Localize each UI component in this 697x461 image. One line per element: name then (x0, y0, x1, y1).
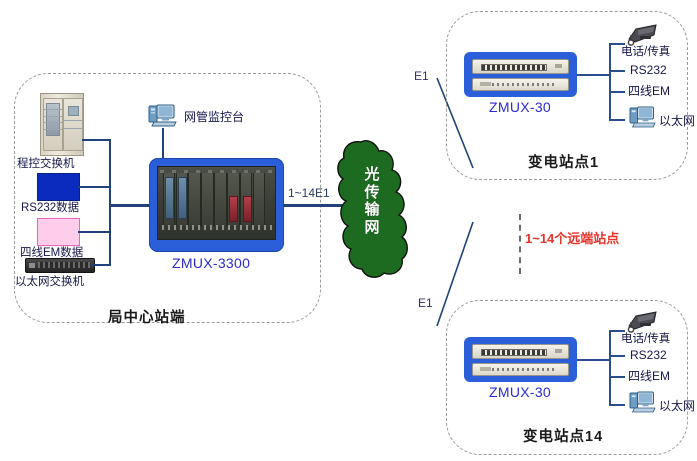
region-remote-site-14-title: 变电站点14 (523, 425, 603, 446)
line-console-to-chassis (162, 128, 164, 160)
link-label-e1-site14: E1 (418, 296, 433, 310)
endpoint-label-pbx: 程控交换机 (17, 159, 75, 171)
endpoint-label-eth-switch: 以太网交换机 (15, 277, 84, 289)
service-label-phone-site14: 电话/传真 (621, 334, 670, 346)
remote-note-text: 1~14个远端站点 (525, 228, 619, 247)
desktop-computer-icon-site14 (629, 390, 657, 415)
line-service-bus-site14 (609, 330, 611, 405)
endpoint-label-rs232: RS232数据 (21, 203, 79, 215)
line-em-stub (78, 231, 110, 233)
zmux30-icon-site1 (464, 52, 577, 97)
telephone-icon-site14 (625, 309, 659, 333)
device-label-zmux3300: ZMUX-3300 (172, 255, 250, 271)
pink-block-icon (37, 218, 80, 246)
link-label-e1-site1: E1 (414, 69, 429, 83)
service-label-em-site1: 四线EM (628, 85, 670, 97)
device-label-zmux30-site14: ZMUX-30 (489, 384, 551, 400)
service-label-rs232-site1: RS232 (630, 64, 667, 76)
line-service-stub-eth-site14 (609, 404, 625, 406)
line-bus-to-chassis (109, 204, 154, 207)
desktop-computer-icon-site1 (629, 105, 657, 130)
region-remote-site-1-title: 变电站点1 (528, 151, 599, 172)
line-rs232-stub (78, 186, 110, 188)
desktop-computer-icon (148, 103, 178, 129)
service-label-eth-site14: 以太网 (659, 400, 695, 412)
line-service-stub-rs232-site1 (609, 70, 625, 72)
line-zmux30-trunk-site1 (577, 74, 610, 76)
line-service-stub-rs232-site14 (609, 355, 625, 357)
line-central-bus (109, 139, 111, 266)
region-central-site-title: 局中心站端 (108, 306, 186, 327)
zmux30-icon-site14 (464, 337, 577, 382)
service-label-eth-site1: 以太网 (659, 115, 695, 127)
service-label-phone-site1: 电话/传真 (621, 47, 670, 59)
line-service-bus-site1 (609, 43, 611, 120)
rack-switch-icon (25, 258, 95, 273)
service-label-em-site14: 四线EM (628, 370, 670, 382)
nms-console-label: 网管监控台 (184, 111, 244, 123)
device-label-zmux30-site1: ZMUX-30 (489, 99, 551, 115)
chassis-icon (149, 158, 284, 252)
telephone-icon-site1 (625, 22, 659, 46)
pbx-cabinet-icon (40, 93, 84, 156)
line-ethsw-stub (92, 264, 110, 266)
line-zmux30-trunk-site14 (577, 359, 610, 361)
remote-note-separator (519, 214, 521, 274)
line-service-stub-phone-site14 (609, 330, 625, 332)
trunk-label-1-14e1: 1~14E1 (288, 186, 330, 200)
line-service-stub-eth-site1 (609, 119, 625, 121)
diagram-canvas: 局中心站端 程控交换机 RS232数据 四线EM数据 以太网交换机 (0, 0, 697, 461)
blue-block-icon (37, 173, 80, 201)
line-service-stub-em-site1 (609, 91, 625, 93)
line-pbx-stub (82, 139, 110, 141)
line-service-stub-em-site14 (609, 376, 625, 378)
line-service-stub-phone-site1 (609, 43, 625, 45)
service-label-rs232-site14: RS232 (630, 349, 667, 361)
